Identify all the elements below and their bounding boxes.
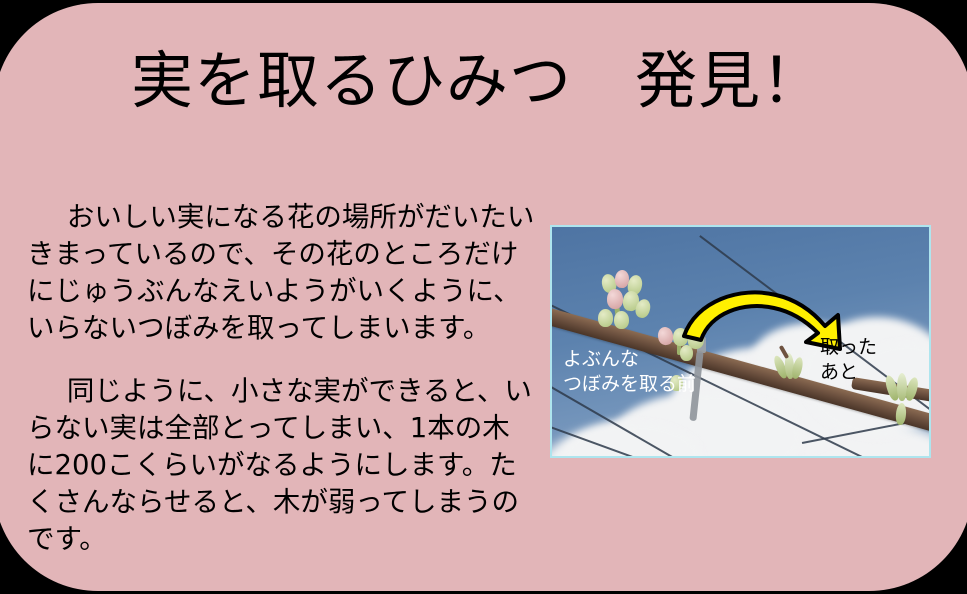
paragraph-1-text: おいしい実になる花の場所がだいたいきまっているので、その花のところだけにじゅうぶ… xyxy=(27,201,534,344)
slide-canvas: 実を取るひみつ 発見！ おいしい実になる花の場所がだいたいきまっているので、その… xyxy=(0,0,967,594)
caption-before-thinning: よぶんな つぼみを取る前 xyxy=(563,347,696,397)
paragraph-2-text: 同じように、小さな実ができると、いらない実は全部とってしまい、1本の木に200こ… xyxy=(27,375,532,555)
paragraph-1: おいしい実になる花の場所がだいたいきまっているので、その花のところだけにじゅうぶ… xyxy=(27,199,537,347)
page-title: 実を取るひみつ 発見！ xyxy=(0,50,961,112)
body-text-block: おいしい実になる花の場所がだいたいきまっているので、その花のところだけにじゅうぶ… xyxy=(27,199,537,558)
thinned-spur xyxy=(895,403,907,426)
pink-rounded-panel: 実を取るひみつ 発見！ おいしい実になる花の場所がだいたいきまっているので、その… xyxy=(0,3,967,591)
photo-bud-thinning: よぶんな つぼみを取る前 取った あと xyxy=(550,225,931,458)
paragraph-2: 同じように、小さな実ができると、いらない実は全部とってしまい、1本の木に200こ… xyxy=(27,373,537,558)
caption-after-thinning: 取った あと xyxy=(820,335,877,385)
